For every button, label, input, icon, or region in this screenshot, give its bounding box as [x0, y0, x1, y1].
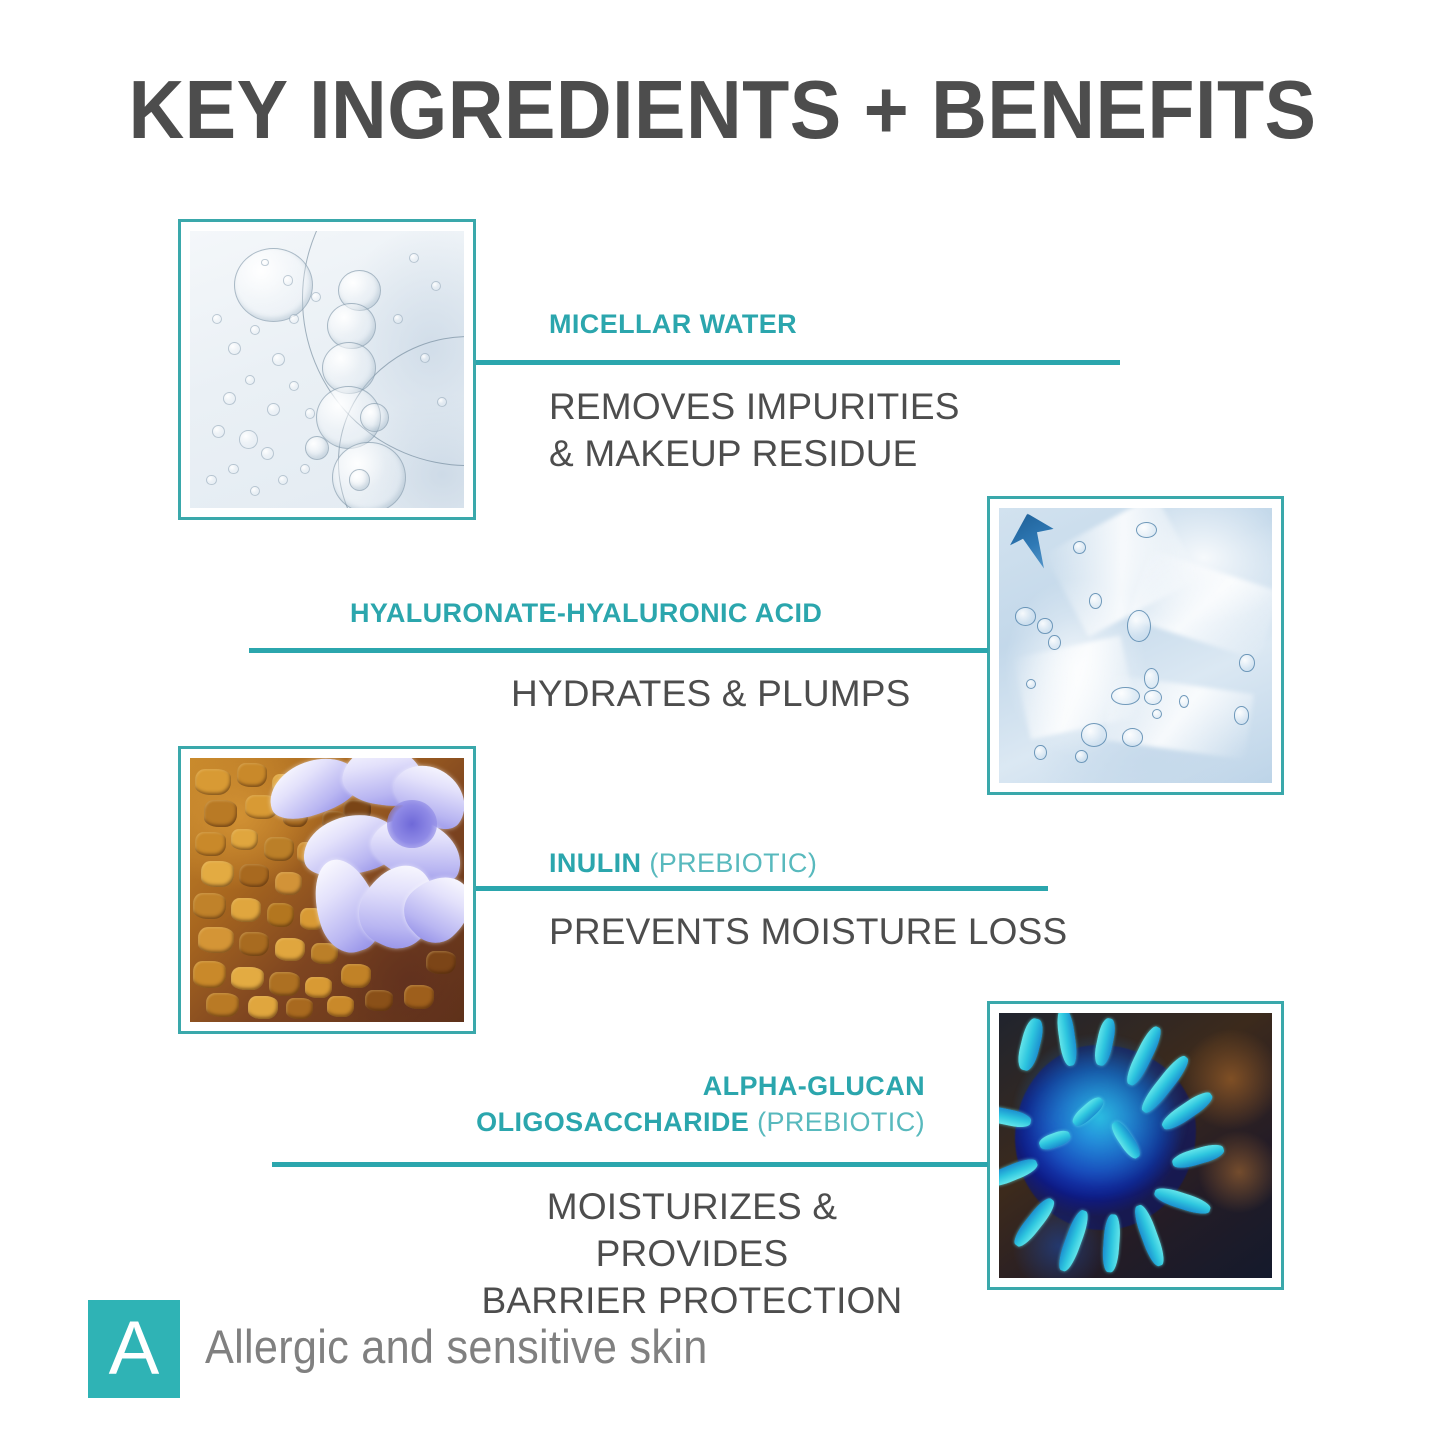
inulin-chicory-root-photo: [190, 758, 464, 1022]
ingredient-label-line-2: OLIGOSACCHARIDE: [476, 1107, 749, 1137]
benefit-line-2: & MAKEUP RESIDUE: [549, 430, 960, 477]
ingredient-name-inulin: INULIN (PREBIOTIC): [549, 845, 817, 881]
benefit-text-micellar-water: REMOVES IMPURITIES & MAKEUP RESIDUE: [549, 383, 960, 477]
ingredient-label: MICELLAR WATER: [549, 309, 797, 339]
allergic-skin-label: Allergic and sensitive skin: [205, 1314, 708, 1380]
divider-rule-alpha-glucan: [272, 1162, 988, 1167]
ingredient-qualifier: (PREBIOTIC): [649, 848, 817, 878]
micellar-water-bubbles-photo: [190, 231, 464, 508]
divider-rule-inulin: [476, 886, 1048, 891]
hyaluronic-acid-gel-photo: [999, 508, 1272, 783]
hyaluronic-acid-image-frame: [987, 496, 1284, 795]
ingredient-label-line-1: ALPHA-GLUCAN: [703, 1071, 925, 1101]
page-title: KEY INGREDIENTS + BENEFITS: [51, 62, 1395, 158]
benefit-line-1: MOISTURIZES & PROVIDES: [457, 1183, 927, 1277]
micellar-water-image-frame: [178, 219, 476, 520]
divider-rule-micellar-water: [476, 360, 1120, 365]
benefit-text-alpha-glucan: MOISTURIZES & PROVIDES BARRIER PROTECTIO…: [457, 1183, 927, 1324]
ingredient-label: INULIN: [549, 848, 641, 878]
benefit-text-inulin: PREVENTS MOISTURE LOSS: [549, 908, 1067, 955]
ingredient-name-micellar-water: MICELLAR WATER: [549, 306, 797, 342]
allergic-skin-badge: A: [88, 1300, 180, 1398]
benefit-line-1: PREVENTS MOISTURE LOSS: [549, 908, 1067, 955]
inulin-image-frame: [178, 746, 476, 1034]
benefit-line-1: HYDRATES & PLUMPS: [511, 670, 911, 717]
divider-rule-hyaluronic-acid: [249, 648, 988, 653]
alpha-glucan-microbe-photo: [999, 1013, 1272, 1278]
alpha-glucan-image-frame: [987, 1001, 1284, 1290]
ingredient-label: HYALURONATE-HYALURONIC ACID: [350, 598, 822, 628]
ingredient-name-alpha-glucan: ALPHA-GLUCAN OLIGOSACCHARIDE (PREBIOTIC): [455, 1068, 925, 1140]
ingredient-name-hyaluronic-acid: HYALURONATE-HYALURONIC ACID: [350, 595, 822, 631]
benefit-text-hyaluronic-acid: HYDRATES & PLUMPS: [511, 670, 911, 717]
ingredient-qualifier: (PREBIOTIC): [757, 1107, 925, 1137]
benefit-line-1: REMOVES IMPURITIES: [549, 383, 960, 430]
